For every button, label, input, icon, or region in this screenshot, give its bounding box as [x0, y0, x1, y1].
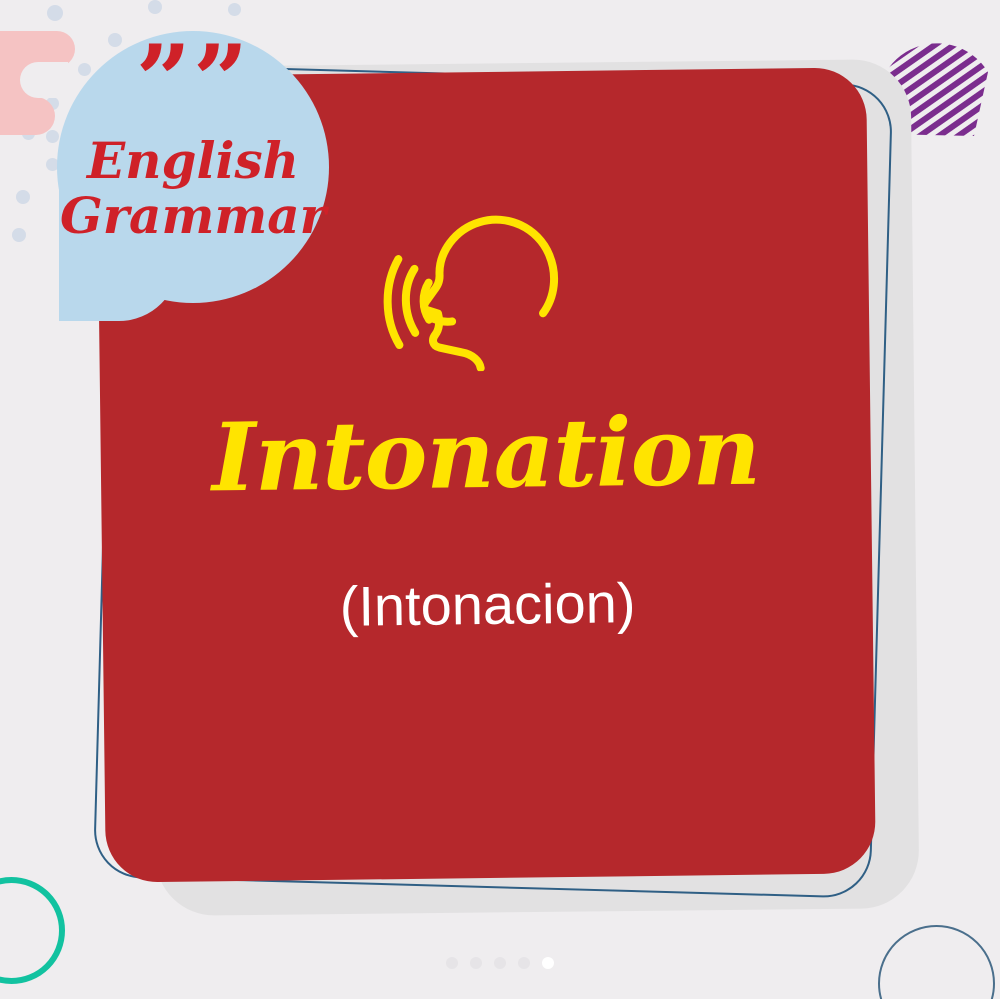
decor-dot [228, 3, 241, 16]
quote-glyph-left: ” [136, 45, 193, 117]
card-title: Intonation [100, 403, 871, 506]
pagination-dots [0, 957, 1000, 969]
page-dot-5[interactable] [542, 957, 554, 969]
quote-glyph-right: ” [193, 45, 250, 117]
badge-line-2: Grammar [57, 190, 329, 241]
decor-dot [16, 190, 30, 204]
speaking-head-icon [381, 205, 583, 372]
pink-decor-bar-mid [0, 97, 55, 135]
page-dot-2[interactable] [470, 957, 482, 969]
decor-dot [47, 5, 63, 21]
slide-canvas: Intonation (Intonacion) ”” English Gramm… [0, 0, 1000, 999]
decor-dot [148, 0, 162, 14]
page-dot-4[interactable] [518, 957, 530, 969]
decor-dot [12, 228, 26, 242]
badge-line-1: English [57, 135, 329, 186]
card-subtitle: (Intonacion) [102, 567, 873, 641]
page-dot-3[interactable] [494, 957, 506, 969]
badge-text: English Grammar [57, 135, 329, 241]
page-dot-1[interactable] [446, 957, 458, 969]
english-grammar-badge: ”” English Grammar [57, 31, 329, 321]
quote-marks-icon: ”” [57, 45, 329, 119]
